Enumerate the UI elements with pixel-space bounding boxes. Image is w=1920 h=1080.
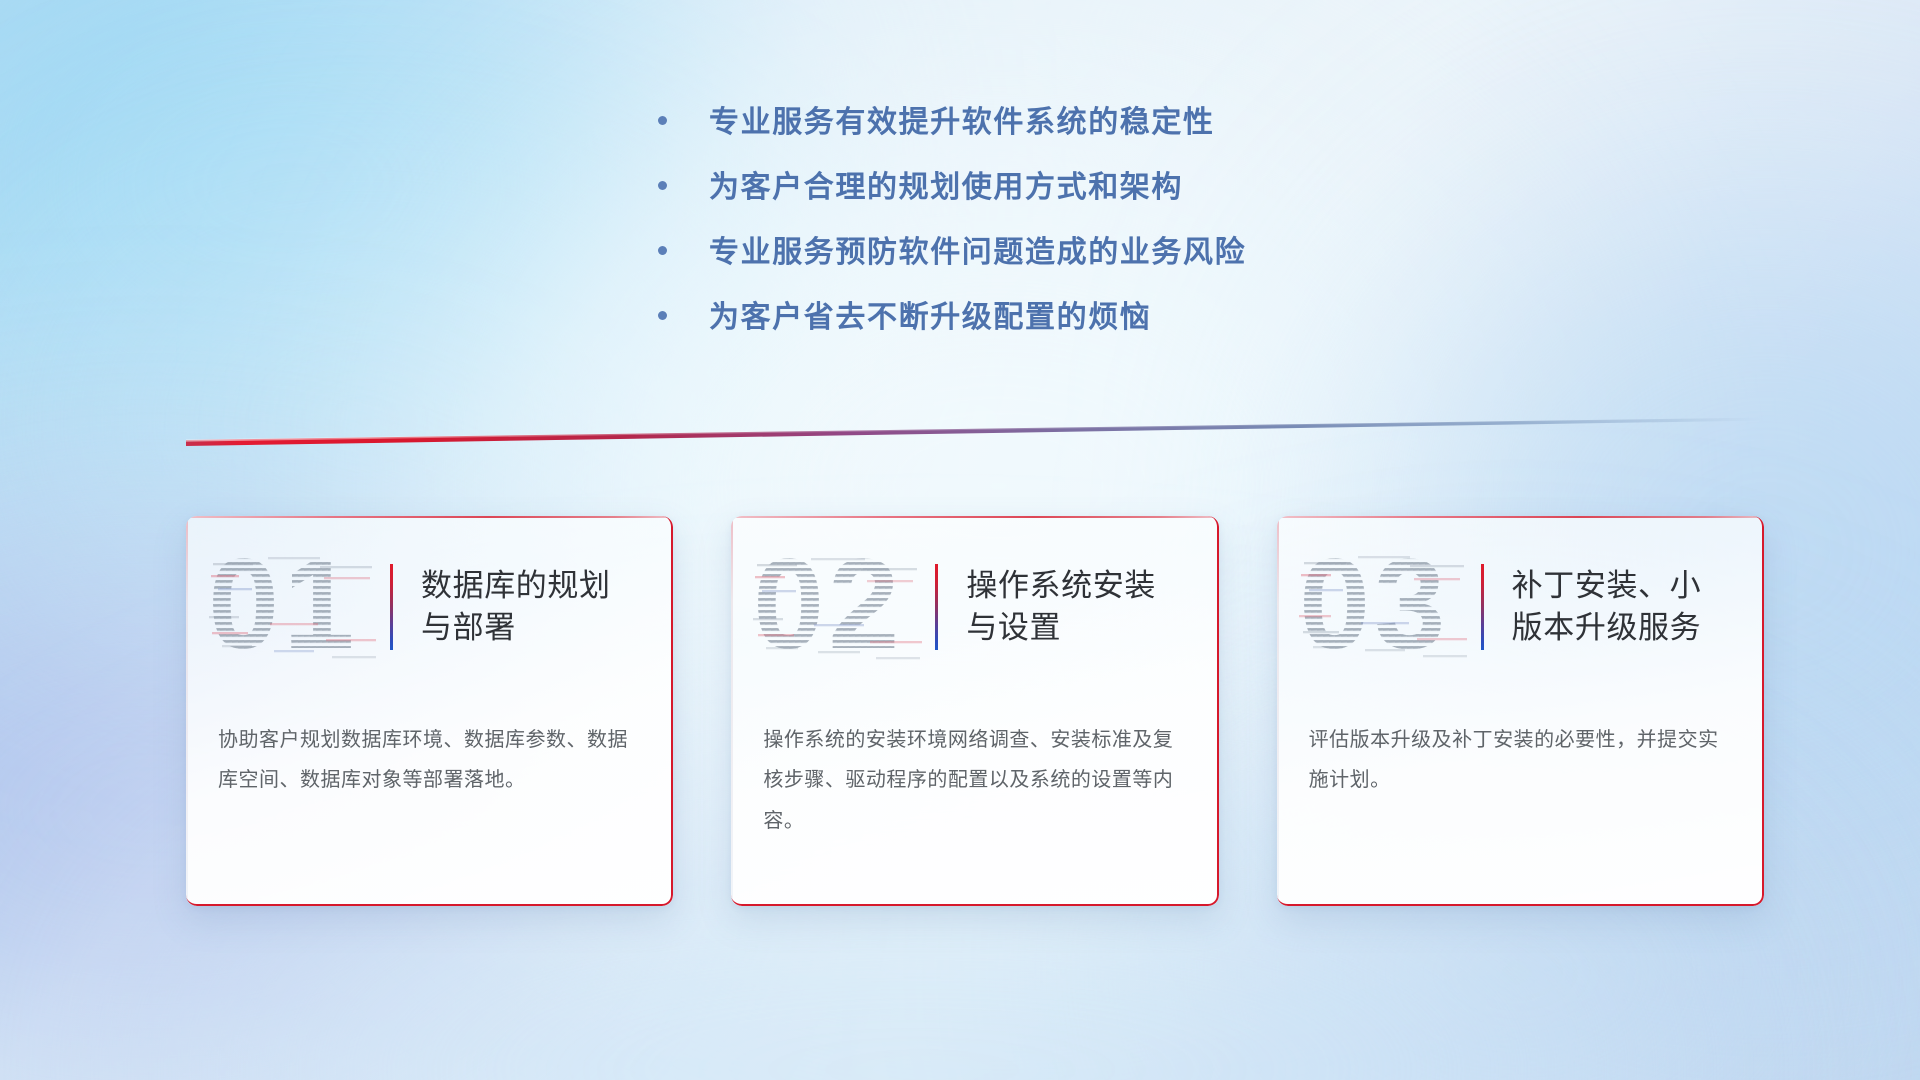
card-accent-bar bbox=[390, 564, 393, 650]
card-header: 01 bbox=[186, 516, 673, 698]
bullet-label: 为客户合理的规划使用方式和架构 bbox=[709, 173, 1183, 203]
card-header: 03 bbox=[1277, 516, 1764, 698]
card-description: 操作系统的安装环境网络调查、安装标准及复核步骤、驱动程序的配置以及系统的设置等内… bbox=[763, 720, 1188, 841]
bullet-dot-icon bbox=[658, 311, 667, 320]
card-left-accent-line bbox=[1277, 516, 1279, 906]
card-title: 数据库的规划与部署 bbox=[421, 565, 673, 648]
section-divider bbox=[186, 410, 1764, 446]
list-item: 为客户合理的规划使用方式和架构 bbox=[658, 173, 1658, 238]
card-title: 操作系统安装与设置 bbox=[966, 565, 1218, 648]
scanline-number-svg: 01 bbox=[208, 544, 386, 670]
bullet-dot-icon bbox=[658, 246, 667, 255]
scanline-number-svg: 02 bbox=[753, 544, 931, 670]
card-header: 02 bbox=[731, 516, 1218, 698]
bullet-dot-icon bbox=[658, 116, 667, 125]
card-left-accent-line bbox=[731, 516, 733, 906]
ghost-number-02-icon: 02 bbox=[753, 544, 931, 670]
card-accent-bar bbox=[1481, 564, 1484, 650]
list-item: 专业服务预防软件问题造成的业务风险 bbox=[658, 238, 1658, 303]
service-card[interactable]: 02 bbox=[731, 516, 1218, 906]
card-description: 评估版本升级及补丁安装的必要性，并提交实施计划。 bbox=[1309, 720, 1734, 801]
ghost-number-03-icon: 03 bbox=[1299, 544, 1477, 670]
card-left-accent-line bbox=[186, 516, 188, 906]
card-title: 补丁安装、小版本升级服务 bbox=[1512, 565, 1764, 648]
bullet-dot-icon bbox=[658, 181, 667, 190]
ghost-number-01-icon: 01 bbox=[208, 544, 386, 670]
service-card[interactable]: 01 bbox=[186, 516, 673, 906]
service-card[interactable]: 03 bbox=[1277, 516, 1764, 906]
tapered-wedge-divider-icon bbox=[186, 410, 1764, 446]
bullet-label: 专业服务有效提升软件系统的稳定性 bbox=[709, 108, 1215, 138]
card-accent-bar bbox=[935, 564, 938, 650]
bullet-label: 为客户省去不断升级配置的烦恼 bbox=[709, 303, 1151, 333]
card-description: 协助客户规划数据库环境、数据库参数、数据库空间、数据库对象等部署落地。 bbox=[218, 720, 643, 801]
bullet-label: 专业服务预防软件问题造成的业务风险 bbox=[709, 238, 1246, 268]
card-top-accent-line bbox=[1277, 516, 1764, 518]
card-top-accent-line bbox=[731, 516, 1218, 518]
benefits-bullet-list: 专业服务有效提升软件系统的稳定性 为客户合理的规划使用方式和架构 专业服务预防软… bbox=[658, 108, 1658, 368]
list-item: 为客户省去不断升级配置的烦恼 bbox=[658, 303, 1658, 368]
list-item: 专业服务有效提升软件系统的稳定性 bbox=[658, 108, 1658, 173]
scanline-number-svg: 03 bbox=[1299, 544, 1477, 670]
service-card-row: 01 bbox=[186, 516, 1764, 906]
card-top-accent-line bbox=[186, 516, 673, 518]
